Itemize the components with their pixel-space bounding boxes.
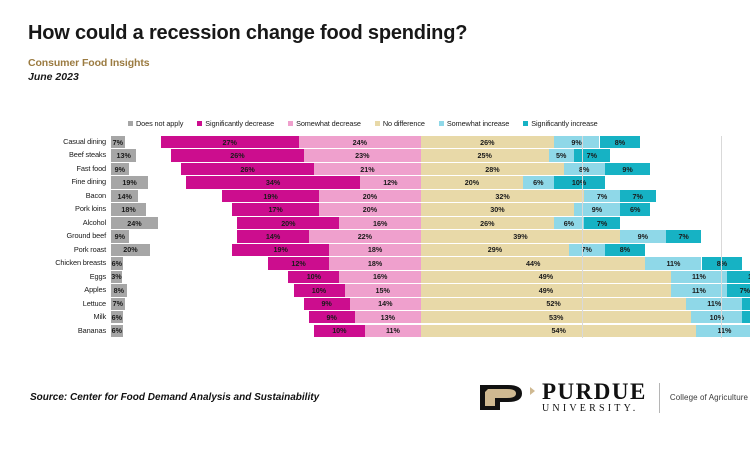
- does-not-apply-track: 19%: [111, 176, 173, 188]
- bar-value-label: 25%: [478, 151, 492, 160]
- chart-row-label: Chicken breasts: [28, 257, 111, 269]
- purdue-wordmark-sub: UNIVERSITY.: [542, 403, 647, 414]
- purdue-wordmark: PURDUE UNIVERSITY.: [542, 381, 647, 414]
- bar-value-label: 11%: [717, 326, 731, 335]
- bar-segment-significantly-decrease: 26%: [181, 163, 314, 175]
- bar-value-label: 27%: [223, 138, 237, 147]
- bar-segment-no-difference: 26%: [421, 217, 554, 229]
- bar-segment-does-not-apply: 8%: [111, 284, 127, 296]
- bar-segment-significantly-decrease: 9%: [309, 311, 355, 323]
- bar-segment-somewhat-increase: 9%: [620, 230, 666, 242]
- diverging-stack: 10%15%49%11%7%: [173, 284, 722, 296]
- bar-value-label: 20%: [363, 205, 377, 214]
- does-not-apply-track: 8%: [111, 284, 173, 296]
- chart-row: Eggs3%10%16%49%11%11%: [28, 271, 722, 283]
- bar-segment-somewhat-decrease: 16%: [339, 217, 421, 229]
- chart-row-label: Apples: [28, 284, 111, 296]
- bar-value-label: 29%: [488, 245, 502, 254]
- bar-segment-does-not-apply: 6%: [111, 257, 123, 269]
- chart-row: Bananas6%10%11%54%11%7%: [28, 325, 722, 337]
- bar-segment-no-difference: 52%: [421, 298, 686, 310]
- bar-segment-somewhat-increase: 5%: [549, 149, 575, 161]
- bar-value-label: 8%: [620, 245, 630, 254]
- bar-segment-somewhat-increase: 7%: [584, 190, 620, 202]
- bar-segment-no-difference: 29%: [421, 244, 569, 256]
- chart-row-label: Bacon: [28, 190, 111, 202]
- legend-swatch-icon: [197, 121, 202, 126]
- bar-value-label: 9%: [622, 165, 632, 174]
- bar-value-label: 10%: [332, 326, 346, 335]
- bar-value-label: 18%: [368, 245, 382, 254]
- diverging-stack: 26%23%25%5%7%: [173, 149, 722, 161]
- bar-value-label: 11%: [692, 286, 706, 295]
- bar-value-label: 44%: [526, 259, 540, 268]
- legend-item[interactable]: Somewhat decrease: [288, 119, 361, 128]
- does-not-apply-track: 6%: [111, 257, 173, 269]
- does-not-apply-track: 24%: [111, 217, 173, 229]
- bar-segment-does-not-apply: 19%: [111, 176, 148, 188]
- diverging-stack: 10%11%54%11%7%: [173, 325, 722, 337]
- bar-segment-does-not-apply: 18%: [111, 203, 146, 215]
- bar-segment-significantly-decrease: 26%: [171, 149, 304, 161]
- bar-segment-somewhat-decrease: 18%: [329, 244, 421, 256]
- diverging-stack: 27%24%26%9%8%: [173, 136, 722, 148]
- bar-value-label: 10%: [312, 286, 326, 295]
- bar-value-label: 5%: [556, 151, 566, 160]
- bar-segment-somewhat-increase: 6%: [523, 176, 554, 188]
- diverging-stack: 26%21%28%8%9%: [173, 163, 722, 175]
- bar-value-label: 9%: [571, 138, 581, 147]
- bar-segment-significantly-decrease: 27%: [161, 136, 299, 148]
- logo-divider: [659, 383, 660, 413]
- chart-row: Lettuce7%9%14%52%11%7%: [28, 298, 722, 310]
- bar-segment-somewhat-decrease: 24%: [299, 136, 421, 148]
- bar-segment-somewhat-increase: 11%: [696, 325, 750, 337]
- bar-value-label: 19%: [263, 192, 277, 201]
- chart-row-label: Ground beef: [28, 230, 111, 242]
- bar-segment-no-difference: 54%: [421, 325, 696, 337]
- bar-value-label: 26%: [230, 151, 244, 160]
- chart-legend: Does not applySignificantly decreaseSome…: [128, 117, 673, 129]
- bar-value-label: 3%: [111, 272, 121, 281]
- bar-value-label: 39%: [513, 232, 527, 241]
- legend-label: Does not apply: [136, 119, 183, 128]
- bar-segment-no-difference: 32%: [421, 190, 584, 202]
- diverging-stack: 17%20%30%9%6%: [173, 203, 722, 215]
- bar-segment-somewhat-increase: 11%: [645, 257, 701, 269]
- bar-segment-does-not-apply: 20%: [111, 244, 150, 256]
- does-not-apply-track: 14%: [111, 190, 173, 202]
- bar-value-label: 49%: [539, 286, 553, 295]
- bar-segment-significantly-decrease: 9%: [304, 298, 350, 310]
- bar-value-label: 26%: [240, 165, 254, 174]
- bar-value-label: 7%: [678, 232, 688, 241]
- bar-value-label: 13%: [116, 151, 130, 160]
- chart-row: Pork loins18%17%20%30%9%6%: [28, 203, 722, 215]
- chart-row: Pork roast20%19%18%29%7%8%: [28, 244, 722, 256]
- purdue-p-icon: [478, 381, 536, 414]
- bar-value-label: 9%: [321, 299, 331, 308]
- bar-value-label: 11%: [666, 259, 680, 268]
- does-not-apply-track: 6%: [111, 311, 173, 323]
- does-not-apply-track: 9%: [111, 163, 173, 175]
- bar-segment-significantly-decrease: 20%: [237, 217, 339, 229]
- bar-segment-significantly-decrease: 10%: [288, 271, 339, 283]
- diverging-stack: 20%16%26%6%7%: [173, 217, 722, 229]
- diverging-stack: 10%16%49%11%11%: [173, 271, 722, 283]
- does-not-apply-track: 9%: [111, 230, 173, 242]
- chart-row-label: Fast food: [28, 163, 111, 175]
- bar-value-label: 12%: [383, 178, 397, 187]
- bar-value-label: 20%: [363, 192, 377, 201]
- legend-label: Somewhat decrease: [296, 119, 361, 128]
- bar-segment-does-not-apply: 6%: [111, 325, 123, 337]
- bar-segment-significantly-increase: 8%: [605, 244, 646, 256]
- does-not-apply-track: 6%: [111, 325, 173, 337]
- bar-value-label: 24%: [353, 138, 367, 147]
- bar-value-label: 10%: [572, 178, 586, 187]
- bar-segment-significantly-increase: 9%: [605, 163, 651, 175]
- bar-segment-somewhat-decrease: 21%: [314, 163, 421, 175]
- bar-value-label: 28%: [485, 165, 499, 174]
- bar-value-label: 24%: [127, 219, 141, 228]
- chart-row: Chicken breasts6%12%18%44%11%8%: [28, 257, 722, 269]
- bar-segment-somewhat-decrease: 11%: [365, 325, 421, 337]
- bar-value-label: 30%: [490, 205, 504, 214]
- bar-value-label: 16%: [373, 219, 387, 228]
- bar-segment-significantly-decrease: 12%: [268, 257, 329, 269]
- bar-value-label: 9%: [115, 165, 125, 174]
- bar-segment-somewhat-increase: 8%: [564, 163, 605, 175]
- bar-segment-significantly-increase: 7%: [727, 284, 750, 296]
- bar-value-label: 14%: [266, 232, 280, 241]
- bar-segment-significantly-decrease: 14%: [237, 230, 308, 242]
- bar-segment-does-not-apply: 13%: [111, 149, 136, 161]
- bar-value-label: 52%: [546, 299, 560, 308]
- chart-row-label: Milk: [28, 311, 111, 323]
- bar-segment-significantly-increase: 11%: [727, 271, 750, 283]
- bar-value-label: 49%: [539, 272, 553, 281]
- legend-item[interactable]: Significantly increase: [523, 119, 597, 128]
- diverging-stack: 19%18%29%7%8%: [173, 244, 722, 256]
- chart-row-label: Fine dining: [28, 176, 111, 188]
- chart-row: Alcohol24%20%16%26%6%7%: [28, 217, 722, 229]
- chart-row: Milk6%9%13%53%10%10%: [28, 311, 722, 323]
- bar-value-label: 19%: [122, 178, 136, 187]
- chart-row: Apples8%10%15%49%11%7%: [28, 284, 722, 296]
- bar-segment-somewhat-decrease: 22%: [309, 230, 421, 242]
- bar-value-label: 7%: [587, 151, 597, 160]
- chart-row-label: Pork roast: [28, 244, 111, 256]
- bar-value-label: 17%: [268, 205, 282, 214]
- bar-segment-somewhat-increase: 10%: [691, 311, 742, 323]
- bar-value-label: 21%: [360, 165, 374, 174]
- bar-segment-does-not-apply: 6%: [111, 311, 123, 323]
- bar-segment-somewhat-decrease: 23%: [304, 149, 421, 161]
- chart-row: Ground beef9%14%22%39%9%7%: [28, 230, 722, 242]
- bar-segment-significantly-decrease: 19%: [222, 190, 319, 202]
- bar-value-label: 11%: [386, 326, 400, 335]
- bar-value-label: 6%: [533, 178, 543, 187]
- legend-item[interactable]: No difference: [375, 119, 425, 128]
- bar-segment-no-difference: 49%: [421, 271, 671, 283]
- bar-segment-does-not-apply: 9%: [111, 163, 129, 175]
- bar-segment-somewhat-increase: 11%: [671, 271, 727, 283]
- bar-segment-significantly-increase: 7%: [742, 298, 750, 310]
- legend-label: No difference: [383, 119, 425, 128]
- bar-value-label: 20%: [123, 245, 137, 254]
- diverging-stack: 9%13%53%10%10%: [173, 311, 722, 323]
- legend-swatch-icon: [439, 121, 444, 126]
- bar-segment-significantly-decrease: 10%: [314, 325, 365, 337]
- bar-value-label: 7%: [113, 299, 123, 308]
- report-series: Consumer Food Insights: [28, 57, 149, 69]
- legend-item[interactable]: Significantly decrease: [197, 119, 274, 128]
- legend-item[interactable]: Does not apply: [128, 119, 183, 128]
- chart-row-label: Alcohol: [28, 217, 111, 229]
- bar-value-label: 8%: [615, 138, 625, 147]
- diverging-stack: 12%18%44%11%8%: [173, 257, 722, 269]
- bar-value-label: 7%: [597, 219, 607, 228]
- chart-row-label: Pork loins: [28, 203, 111, 215]
- does-not-apply-track: 3%: [111, 271, 173, 283]
- bar-segment-somewhat-increase: 11%: [671, 284, 727, 296]
- chart-row-label: Beef steaks: [28, 149, 111, 161]
- source-note: Source: Center for Food Demand Analysis …: [30, 392, 319, 403]
- bar-value-label: 20%: [465, 178, 479, 187]
- chart-row: Casual dining7%27%24%26%9%8%: [28, 136, 722, 148]
- bar-segment-does-not-apply: 14%: [111, 190, 138, 202]
- bar-value-label: 8%: [579, 165, 589, 174]
- diverging-stack: 14%22%39%9%7%: [173, 230, 722, 242]
- bar-segment-significantly-increase: 7%: [666, 230, 702, 242]
- legend-label: Somewhat increase: [447, 119, 509, 128]
- bar-segment-somewhat-increase: 7%: [569, 244, 605, 256]
- bar-segment-significantly-increase: 7%: [620, 190, 656, 202]
- bar-value-label: 7%: [597, 192, 607, 201]
- bar-segment-no-difference: 30%: [421, 203, 574, 215]
- bar-value-label: 18%: [368, 259, 382, 268]
- bar-segment-significantly-decrease: 10%: [294, 284, 345, 296]
- bar-segment-no-difference: 49%: [421, 284, 671, 296]
- bar-value-label: 54%: [552, 326, 566, 335]
- bar-value-label: 11%: [707, 299, 721, 308]
- legend-swatch-icon: [288, 121, 293, 126]
- bar-value-label: 19%: [274, 245, 288, 254]
- bar-segment-somewhat-decrease: 12%: [360, 176, 421, 188]
- bar-segment-significantly-increase: 8%: [600, 136, 641, 148]
- bar-segment-no-difference: 44%: [421, 257, 645, 269]
- bar-value-label: 10%: [307, 272, 321, 281]
- bar-segment-no-difference: 28%: [421, 163, 564, 175]
- bar-segment-does-not-apply: 7%: [111, 298, 125, 310]
- bar-value-label: 6%: [564, 219, 574, 228]
- bar-value-label: 9%: [327, 313, 337, 322]
- bar-value-label: 7%: [113, 138, 123, 147]
- bar-value-label: 32%: [495, 192, 509, 201]
- chart-gridline: [721, 136, 722, 338]
- page-title: How could a recession change food spendi…: [28, 22, 467, 45]
- does-not-apply-track: 20%: [111, 244, 173, 256]
- chart-row-label: Casual dining: [28, 136, 111, 148]
- bar-segment-no-difference: 53%: [421, 311, 691, 323]
- bar-segment-significantly-increase: 7%: [574, 149, 610, 161]
- bar-value-label: 53%: [549, 313, 563, 322]
- bar-value-label: 16%: [373, 272, 387, 281]
- purdue-wordmark-main: PURDUE: [542, 381, 647, 403]
- chart-row-label: Lettuce: [28, 298, 111, 310]
- bar-value-label: 9%: [638, 232, 648, 241]
- bar-segment-somewhat-decrease: 14%: [350, 298, 421, 310]
- diverging-stack: 19%20%32%7%7%: [173, 190, 722, 202]
- legend-label: Significantly decrease: [205, 119, 274, 128]
- bar-segment-no-difference: 20%: [421, 176, 523, 188]
- chart-row: Fine dining19%34%12%20%6%10%: [28, 176, 722, 188]
- legend-item[interactable]: Somewhat increase: [439, 119, 509, 128]
- bar-segment-somewhat-increase: 11%: [686, 298, 742, 310]
- bar-value-label: 9%: [115, 232, 125, 241]
- chart-row: Fast food9%26%21%28%8%9%: [28, 163, 722, 175]
- bar-segment-somewhat-decrease: 20%: [319, 190, 421, 202]
- does-not-apply-track: 7%: [111, 298, 173, 310]
- bar-value-label: 7%: [740, 286, 750, 295]
- bar-value-label: 6%: [112, 259, 122, 268]
- chart-row-label: Bananas: [28, 325, 111, 337]
- bar-value-label: 7%: [582, 245, 592, 254]
- chart-row-label: Eggs: [28, 271, 111, 283]
- bar-value-label: 13%: [381, 313, 395, 322]
- legend-swatch-icon: [523, 121, 528, 126]
- bar-value-label: 14%: [378, 299, 392, 308]
- bar-value-label: 11%: [692, 272, 706, 281]
- bar-segment-significantly-decrease: 17%: [232, 203, 319, 215]
- purdue-logo: PURDUE UNIVERSITY. College of Agricultur…: [478, 381, 748, 414]
- chart-row: Bacon14%19%20%32%7%7%: [28, 190, 722, 202]
- chart-plot-area: Casual dining7%27%24%26%9%8%Beef steaks1…: [28, 136, 722, 338]
- bar-value-label: 9%: [592, 205, 602, 214]
- bar-segment-somewhat-increase: 6%: [554, 217, 585, 229]
- bar-value-label: 6%: [630, 205, 640, 214]
- bar-segment-significantly-increase: 7%: [584, 217, 620, 229]
- bar-value-label: 26%: [480, 138, 494, 147]
- bar-segment-does-not-apply: 7%: [111, 136, 125, 148]
- bar-value-label: 6%: [112, 313, 122, 322]
- legend-swatch-icon: [128, 121, 133, 126]
- bar-segment-no-difference: 25%: [421, 149, 549, 161]
- bar-value-label: 8%: [114, 286, 124, 295]
- legend-label: Significantly increase: [531, 119, 597, 128]
- bar-segment-somewhat-decrease: 13%: [355, 311, 421, 323]
- bar-value-label: 34%: [266, 178, 280, 187]
- bar-value-label: 7%: [633, 192, 643, 201]
- bar-segment-somewhat-decrease: 18%: [329, 257, 421, 269]
- bar-segment-significantly-increase: 6%: [620, 203, 651, 215]
- legend-swatch-icon: [375, 121, 380, 126]
- bar-value-label: 15%: [376, 286, 390, 295]
- chart-gridline: [582, 136, 583, 338]
- chart-row: Beef steaks13%26%23%25%5%7%: [28, 149, 722, 161]
- slide-root: How could a recession change food spendi…: [0, 0, 750, 450]
- bar-segment-significantly-increase: 10%: [742, 311, 750, 323]
- bar-value-label: 14%: [117, 192, 131, 201]
- bar-value-label: 26%: [480, 219, 494, 228]
- report-date: June 2023: [28, 71, 79, 83]
- bar-segment-does-not-apply: 3%: [111, 271, 122, 283]
- bar-segment-significantly-increase: 10%: [554, 176, 605, 188]
- bar-value-label: 12%: [291, 259, 305, 268]
- bar-segment-somewhat-decrease: 16%: [339, 271, 421, 283]
- bar-value-label: 22%: [358, 232, 372, 241]
- bar-segment-no-difference: 26%: [421, 136, 554, 148]
- bar-segment-significantly-decrease: 34%: [186, 176, 359, 188]
- bar-segment-does-not-apply: 9%: [111, 230, 129, 242]
- does-not-apply-track: 18%: [111, 203, 173, 215]
- bar-segment-somewhat-decrease: 20%: [319, 203, 421, 215]
- bar-value-label: 20%: [281, 219, 295, 228]
- bar-segment-somewhat-decrease: 15%: [345, 284, 422, 296]
- diverging-stack: 34%12%20%6%10%: [173, 176, 722, 188]
- bar-segment-somewhat-increase: 9%: [554, 136, 600, 148]
- diverging-stack: 9%14%52%11%7%: [173, 298, 722, 310]
- bar-value-label: 6%: [112, 326, 122, 335]
- bar-value-label: 23%: [355, 151, 369, 160]
- bar-segment-does-not-apply: 24%: [111, 217, 158, 229]
- does-not-apply-track: 13%: [111, 149, 173, 161]
- bar-value-label: 18%: [121, 205, 135, 214]
- bar-segment-somewhat-increase: 9%: [574, 203, 620, 215]
- bar-segment-significantly-decrease: 19%: [232, 244, 329, 256]
- college-name: College of Agriculture: [670, 393, 748, 402]
- bar-segment-no-difference: 39%: [421, 230, 620, 242]
